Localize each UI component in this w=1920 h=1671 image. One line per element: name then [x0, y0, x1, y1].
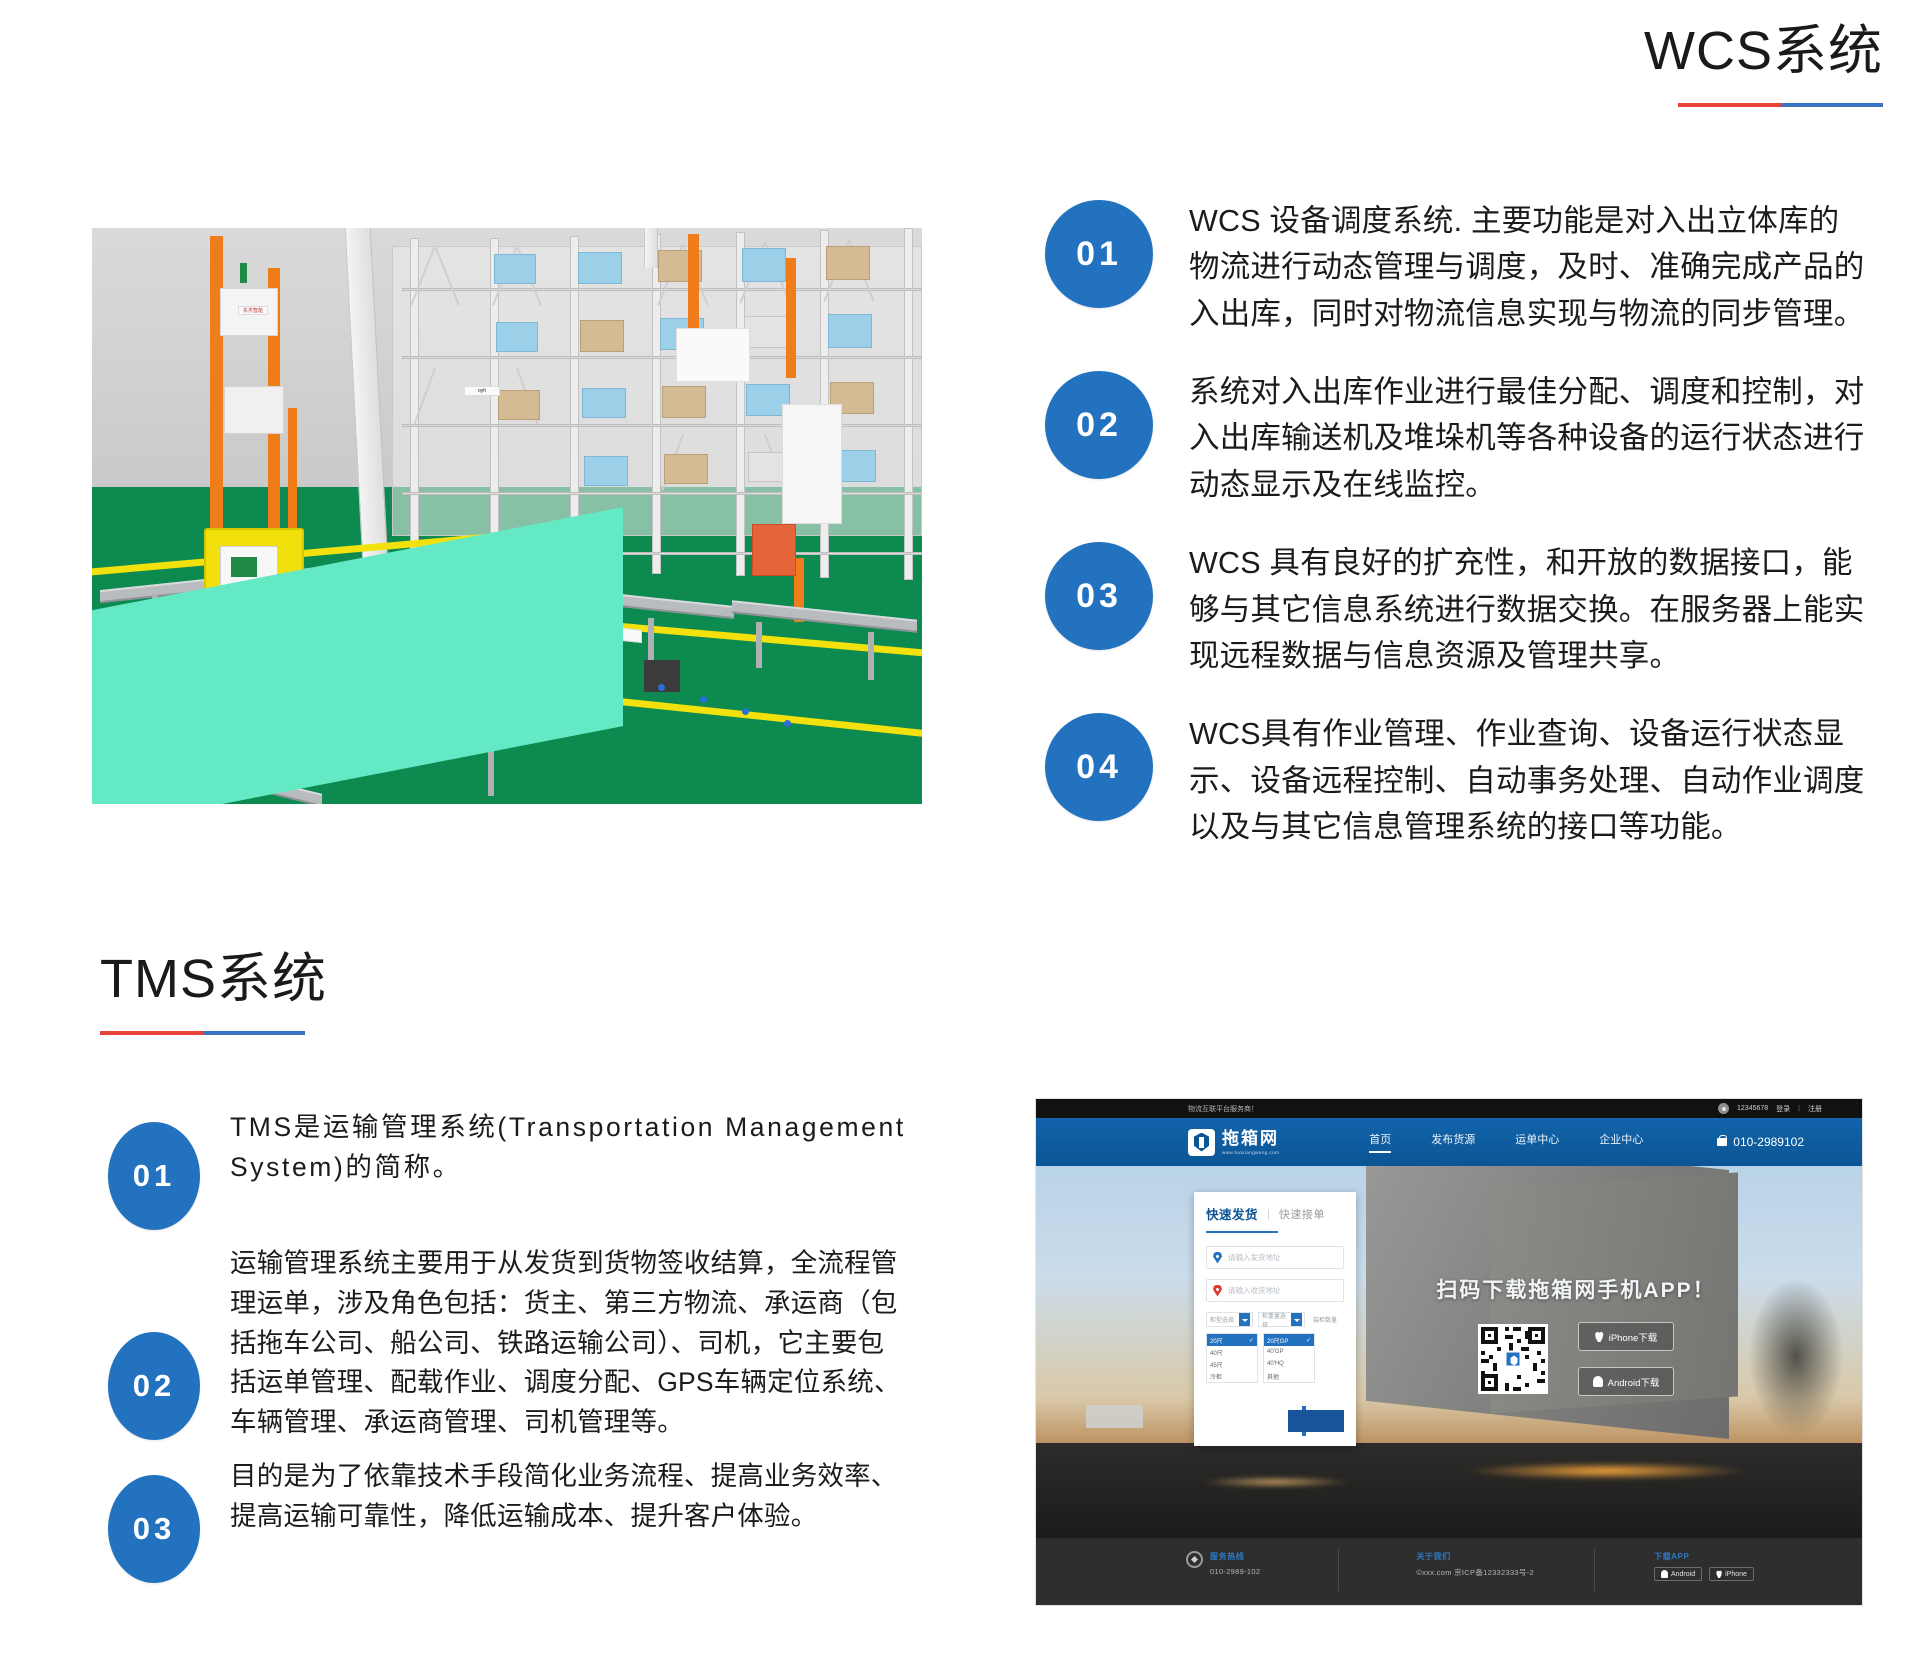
transfer-car — [752, 524, 796, 576]
app-download-promo: 扫码下载拖箱网手机APP！ — [1366, 1274, 1786, 1396]
apple-icon — [1716, 1570, 1722, 1578]
chevron-down-icon — [1291, 1313, 1302, 1326]
footer-icp-license: ©xxx.com 京ICP备12332333号-2 — [1416, 1567, 1534, 1578]
crane-mast-left — [210, 236, 223, 536]
stored-pallet — [496, 322, 538, 352]
site-hotline: 010-2989102 — [1717, 1135, 1804, 1149]
form-dropdowns: 20尺 ✓ 40尺 45尺 冷柜 20尺GP ✓ 40'GP 40'HQ — [1206, 1333, 1344, 1383]
hotline-number: 010-2989102 — [1733, 1135, 1804, 1149]
site-navbar: 拖箱网 www.tuoxiangwang.com 首页 发布货源 运单中心 企业… — [1036, 1118, 1862, 1166]
nav-item-home[interactable]: 首页 — [1369, 1131, 1391, 1153]
phone-icon — [1717, 1138, 1727, 1146]
wcs-feature-list: 01 WCS 设备调度系统. 主要功能是对入出立体库的物流进行动态管理与调度，及… — [1045, 198, 1865, 882]
tms-website-screenshot: 物流互联平台服务商！ 12345678 登录 | 注册 拖箱网 www.tuox… — [1035, 1098, 1863, 1606]
brand-domain: www.tuoxiangwang.com — [1222, 1150, 1279, 1155]
warehouse-3d-image: 东杰智能 oyh — [92, 228, 922, 804]
location-pin-icon — [1213, 1285, 1222, 1297]
stored-pallet — [662, 386, 706, 418]
site-nav-links: 首页 发布货源 运单中心 企业中心 — [1369, 1131, 1643, 1153]
floor-sensor — [658, 684, 665, 691]
qr-code — [1478, 1324, 1548, 1394]
origin-address-input[interactable]: 请输入发货地址 — [1206, 1246, 1344, 1269]
floor-sensor — [784, 720, 791, 727]
dropdown-option[interactable]: 其他 — [1264, 1370, 1314, 1382]
tms-title-text: TMS系统 — [100, 950, 327, 1009]
floor-sensor — [700, 696, 707, 703]
avatar-icon — [1718, 1103, 1729, 1114]
footer-hotline-number: 010-2989-102 — [1210, 1567, 1260, 1576]
tab-quick-ship[interactable]: 快速发货 — [1206, 1204, 1258, 1223]
tab-underline — [1206, 1231, 1278, 1233]
conveyor-leg — [756, 622, 762, 668]
dropdown-option[interactable]: 45尺 — [1207, 1358, 1257, 1370]
stored-pallet — [582, 388, 626, 418]
bullet-number-badge: 03 — [1045, 542, 1153, 650]
topbar-username: 12345678 — [1737, 1105, 1768, 1112]
underline-blue-half — [203, 1031, 306, 1035]
rack-upright — [904, 228, 913, 580]
wcs-feature-item: 02 系统对入出库作业进行最佳分配、调度和控制，对入出库输送机及堆垛机等各种设备… — [1045, 369, 1865, 508]
site-footer: 服务热线 010-2989-102 关于我们 ©xxx.com 京ICP备123… — [1036, 1538, 1862, 1605]
structural-pillar — [644, 228, 658, 268]
nav-item-waybill-center[interactable]: 运单中心 — [1515, 1131, 1559, 1153]
apple-icon — [1595, 1331, 1604, 1342]
topbar-divider: | — [1798, 1105, 1800, 1112]
footer-iphone-label: iPhone — [1725, 1571, 1747, 1578]
check-icon: ✓ — [1306, 1337, 1311, 1344]
rack-sign: oyh — [464, 386, 500, 396]
site-topbar: 物流互联平台服务商！ 12345678 登录 | 注册 — [1036, 1099, 1862, 1118]
dropdown-option[interactable]: 40'HQ — [1264, 1358, 1314, 1370]
footer-download-col: 下载APP Android iPhone — [1594, 1551, 1754, 1581]
tms-feature-item: 02 运输管理系统主要用于从发货到货物签收结算，全流程管理运单，涉及角色包括：货… — [108, 1244, 908, 1443]
stored-pallet — [742, 248, 786, 282]
topbar-account-area: 12345678 登录 | 注册 — [1718, 1103, 1822, 1114]
stored-pallet — [826, 246, 870, 280]
tms-feature-text: 运输管理系统主要用于从发货到货物签收结算，全流程管理运单，涉及角色包括：货主、第… — [230, 1244, 908, 1443]
stored-pallet — [744, 316, 788, 348]
tms-title-underline — [100, 1031, 305, 1035]
quick-ship-form: 快速发货 | 快速接单 请输入发货地址 请输入收货地址 柜型选择 — [1194, 1192, 1356, 1446]
wcs-feature-item: 04 WCS具有作业管理、作业查询、设备运行状态显示、设备远程控制、自动事务处理… — [1045, 711, 1865, 850]
bullet-number-badge: 02 — [108, 1332, 200, 1440]
container-weight-select[interactable]: 柜重量选择 — [1258, 1312, 1305, 1327]
bullet-number-badge: 02 — [1045, 371, 1153, 479]
check-icon: ✓ — [1249, 1337, 1254, 1344]
rack-upright — [652, 234, 661, 574]
wcs-feature-item: 01 WCS 设备调度系统. 主要功能是对入出立体库的物流进行动态管理与调度，及… — [1045, 198, 1865, 337]
android-icon — [1661, 1570, 1668, 1578]
footer-hotline-head: 服务热线 — [1210, 1551, 1260, 1562]
tab-quick-accept[interactable]: 快速接单 — [1279, 1206, 1325, 1222]
footer-android-button[interactable]: Android — [1654, 1567, 1702, 1581]
footer-iphone-button[interactable]: iPhone — [1709, 1567, 1754, 1581]
floor-sensor — [742, 708, 749, 715]
wcs-section-title: WCS系统 — [1644, 22, 1883, 107]
footer-download-head: 下载APP — [1654, 1551, 1754, 1562]
wcs-feature-text: WCS具有作业管理、作业查询、设备运行状态显示、设备远程控制、自动事务处理、自动… — [1189, 711, 1865, 850]
stored-pallet — [664, 454, 708, 484]
stored-pallet — [828, 314, 872, 348]
wcs-title-text: WCS系统 — [1644, 22, 1883, 81]
equipment-panel — [676, 328, 750, 382]
hero-billboard — [1086, 1405, 1144, 1427]
iphone-download-label: iPhone下载 — [1609, 1330, 1658, 1344]
tab-divider: | — [1267, 1208, 1270, 1220]
container-type-dropdown[interactable]: 20尺 ✓ 40尺 45尺 冷柜 — [1206, 1333, 1258, 1383]
qr-logo-icon — [1505, 1351, 1522, 1368]
wcs-feature-text: WCS 具有良好的扩充性，和开放的数据接口，能够与其它信息系统进行数据交换。在服… — [1189, 540, 1865, 679]
form-select-row: 柜型选择 柜重量选择 装柜数量 — [1206, 1312, 1344, 1327]
wcs-feature-item: 03 WCS 具有良好的扩充性，和开放的数据接口，能够与其它信息系统进行数据交换… — [1045, 540, 1865, 679]
wcs-feature-text: WCS 设备调度系统. 主要功能是对入出立体库的物流进行动态管理与调度，及时、准… — [1189, 198, 1865, 337]
conveyor-leg — [648, 618, 654, 662]
stored-pallet — [580, 320, 624, 352]
brand-name: 拖箱网 — [1222, 1130, 1279, 1147]
cabinet-label: 东杰智能 — [238, 306, 268, 315]
chevron-down-icon — [1239, 1313, 1250, 1326]
crane-mast-right — [786, 258, 796, 378]
destination-placeholder: 请输入收货地址 — [1228, 1285, 1281, 1296]
topbar-register-link[interactable]: 注册 — [1808, 1104, 1822, 1114]
option-label: 20尺GP — [1267, 1336, 1288, 1345]
container-weight-dropdown[interactable]: 20尺GP ✓ 40'GP 40'HQ 其他 — [1263, 1333, 1315, 1383]
hero-headlight-glow — [1201, 1476, 1350, 1488]
dropdown-option[interactable]: 40'GP — [1264, 1346, 1314, 1358]
footer-hotline-col: 服务热线 010-2989-102 — [1186, 1551, 1260, 1576]
bullet-number-badge: 03 — [108, 1475, 200, 1583]
download-buttons: iPhone下载 Android下载 — [1578, 1322, 1674, 1396]
android-download-button[interactable]: Android下载 — [1578, 1367, 1674, 1396]
underline-red-half — [1678, 103, 1781, 107]
stored-pallet — [584, 456, 628, 486]
stored-pallet — [494, 254, 536, 284]
site-logo[interactable]: 拖箱网 www.tuoxiangwang.com — [1188, 1129, 1279, 1156]
slide-page: WCS系统 — [0, 0, 1920, 1671]
tms-feature-list: 01 TMS是运输管理系统(Transportation Management … — [108, 1108, 908, 1597]
site-hero: 快速发货 | 快速接单 请输入发货地址 请输入收货地址 柜型选择 — [1036, 1166, 1862, 1540]
form-tabs: 快速发货 | 快速接单 — [1206, 1204, 1344, 1223]
nav-item-enterprise-center[interactable]: 企业中心 — [1599, 1131, 1643, 1153]
bullet-number-badge: 01 — [1045, 200, 1153, 308]
container-type-select[interactable]: 柜型选择 — [1206, 1312, 1253, 1327]
tms-feature-text: TMS是运输管理系统(Transportation Management Sys… — [230, 1108, 908, 1188]
stored-pallet — [498, 390, 540, 420]
rack-beam — [402, 492, 922, 495]
wcs-title-underline — [1678, 103, 1883, 107]
rack-upright — [736, 232, 745, 576]
dropdown-option-selected[interactable]: 20尺GP ✓ — [1264, 1334, 1314, 1346]
option-label: 20尺 — [1210, 1336, 1223, 1345]
footer-about-head[interactable]: 关于我们 — [1416, 1551, 1534, 1562]
hero-road — [1036, 1443, 1862, 1540]
underline-red-half — [100, 1031, 203, 1035]
rack-beam — [402, 424, 922, 427]
footer-android-label: Android — [1671, 1571, 1695, 1578]
dropdown-option-selected[interactable]: 20尺 ✓ — [1207, 1334, 1257, 1346]
tms-feature-item: 01 TMS是运输管理系统(Transportation Management … — [108, 1108, 908, 1230]
promo-row: iPhone下载 Android下载 — [1366, 1322, 1786, 1396]
equipment-cabinet — [782, 404, 842, 524]
form-submit-button[interactable] — [1288, 1410, 1344, 1432]
iphone-download-button[interactable]: iPhone下载 — [1578, 1322, 1674, 1351]
select-label: 柜型选择 — [1210, 1315, 1234, 1324]
headset-icon — [1186, 1551, 1203, 1568]
wcs-feature-text: 系统对入出库作业进行最佳分配、调度和控制，对入出库输送机及堆垛机等各种设备的运行… — [1189, 369, 1865, 508]
android-download-label: Android下载 — [1608, 1375, 1660, 1389]
control-cabinet — [224, 386, 284, 434]
tuoxiangwang-logo-icon — [1188, 1129, 1215, 1156]
underline-blue-half — [1781, 103, 1884, 107]
topbar-login-link[interactable]: 登录 — [1776, 1104, 1790, 1114]
dropdown-option[interactable]: 40尺 — [1207, 1346, 1257, 1358]
tms-section-title: TMS系统 — [100, 950, 327, 1035]
topbar-slogan: 物流互联平台服务商！ — [1188, 1104, 1258, 1114]
nav-item-publish-cargo[interactable]: 发布货源 — [1431, 1131, 1475, 1153]
promo-headline: 扫码下载拖箱网手机APP！ — [1366, 1274, 1786, 1304]
footer-about-col: 关于我们 ©xxx.com 京ICP备12332333号-2 — [1338, 1551, 1534, 1578]
android-icon — [1593, 1376, 1603, 1387]
destination-address-input[interactable]: 请输入收货地址 — [1206, 1279, 1344, 1302]
conveyor-leg — [868, 632, 874, 680]
select-label: 柜重量选择 — [1262, 1311, 1291, 1329]
bullet-number-badge: 01 — [108, 1122, 200, 1230]
location-pin-icon — [1213, 1252, 1222, 1264]
dropdown-option[interactable]: 冷柜 — [1207, 1370, 1257, 1382]
tms-feature-text: 目的是为了依靠技术手段简化业务流程、提高业务效率、提高运输可靠性，降低运输成本、… — [230, 1457, 908, 1537]
origin-placeholder: 请输入发货地址 — [1228, 1252, 1281, 1263]
hero-headlight-glow — [1466, 1462, 1747, 1480]
rack-beam — [402, 356, 922, 359]
tms-feature-item: 03 目的是为了依靠技术手段简化业务流程、提高业务效率、提高运输可靠性，降低运输… — [108, 1457, 908, 1583]
status-light — [240, 263, 247, 283]
bullet-number-badge: 04 — [1045, 713, 1153, 821]
container-count-label: 装柜数量 — [1310, 1312, 1344, 1327]
stored-pallet — [578, 252, 622, 284]
